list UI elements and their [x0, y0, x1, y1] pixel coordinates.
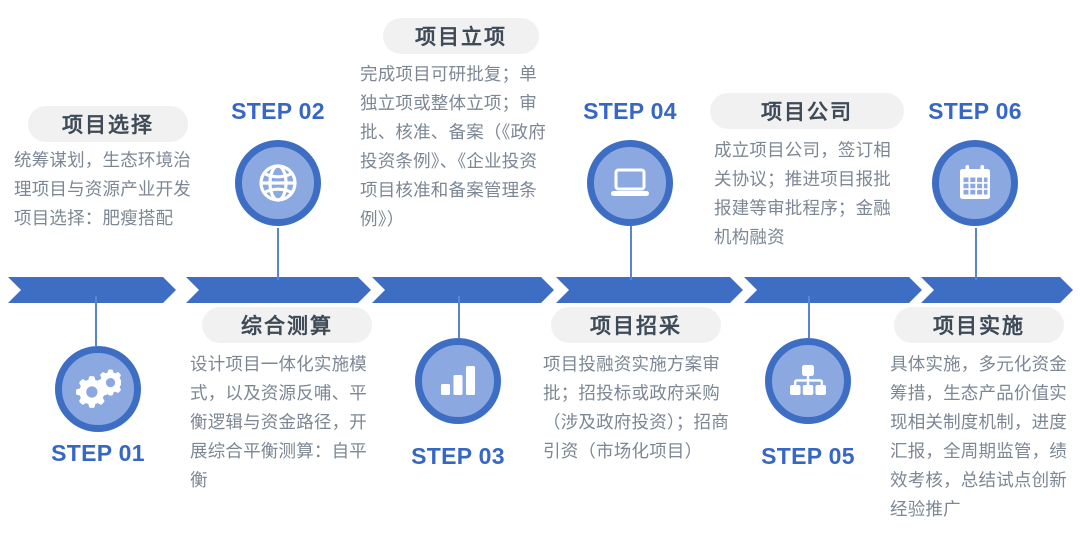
connector-line-step-1	[95, 296, 97, 346]
arrow-segment-6	[921, 277, 1073, 303]
step-1-node[interactable]	[55, 346, 141, 432]
step-1-label: STEP 01	[38, 440, 158, 467]
arrow-segment-1	[8, 277, 176, 303]
globe-icon	[256, 161, 300, 205]
step-5-title-pill: 项目公司	[710, 93, 904, 129]
arrow-segment-4	[556, 277, 743, 303]
step-1-title-pill: 项目选择	[28, 106, 188, 142]
connector-line-step-6	[975, 228, 977, 280]
step-3-label: STEP 03	[398, 443, 518, 470]
bar-chart-icon	[438, 362, 478, 400]
connector-line-step-5	[808, 296, 810, 338]
gears-icon	[75, 367, 121, 411]
step-4-title-pill: 项目招采	[551, 307, 721, 343]
step-5-title: 项目公司	[761, 96, 853, 126]
connector-line-step-3	[458, 296, 460, 338]
step-5-node[interactable]	[765, 338, 851, 424]
arrow-segment-5	[744, 277, 922, 303]
step-6-title-pill: 项目实施	[894, 307, 1064, 343]
step-5-body: 成立项目公司，签订相关协议；推进项目报批报建等审批程序；金融机构融资	[714, 136, 906, 252]
step-1-body: 统筹谋划，生态环境治理项目与资源产业开发项目选择：肥瘦搭配	[14, 146, 204, 233]
process-arrow-band	[0, 277, 1080, 303]
step-4-title: 项目招采	[590, 310, 682, 340]
infographic-canvas: 项目选择 统筹谋划，生态环境治理项目与资源产业开发项目选择：肥瘦搭配 STEP …	[0, 0, 1080, 552]
step-5-label: STEP 05	[748, 443, 868, 470]
step-2-title: 综合测算	[241, 310, 333, 340]
calendar-icon	[955, 163, 995, 203]
step-4-node[interactable]	[587, 140, 673, 226]
step-3-body: 完成项目可研批复；单独立项或整体立项；审批、核准、备案（《政府投资条例》、《企业…	[360, 60, 548, 234]
step-6-node[interactable]	[932, 140, 1018, 226]
step-2-body: 设计项目一体化实施模式，以及资源反哺、平衡逻辑与资金路径，开展综合平衡测算：自平…	[190, 350, 378, 495]
step-3-node[interactable]	[415, 338, 501, 424]
step-3-title: 项目立项	[415, 21, 507, 51]
step-4-label: STEP 04	[570, 98, 690, 125]
step-6-title: 项目实施	[933, 310, 1025, 340]
step-6-label: STEP 06	[915, 98, 1035, 125]
step-6-body: 具体实施，多元化资金筹措，生态产品价值实现相关制度机制，进度汇报，全周期监管，绩…	[890, 350, 1076, 524]
arrow-segment-2	[186, 277, 371, 303]
connector-line-step-2	[277, 228, 279, 280]
step-4-body: 项目投融资实施方案审批；招投标或政府采购（涉及政府投资）；招商引资（市场化项目）	[543, 350, 737, 466]
step-1-title: 项目选择	[62, 109, 154, 139]
arrow-segment-3	[372, 277, 554, 303]
step-2-label: STEP 02	[218, 98, 338, 125]
connector-line-step-4	[630, 226, 632, 280]
step-2-node[interactable]	[235, 140, 321, 226]
step-3-title-pill: 项目立项	[383, 18, 539, 54]
org-chart-icon	[787, 361, 829, 401]
step-2-title-pill: 综合测算	[202, 307, 372, 343]
laptop-icon	[608, 164, 652, 202]
